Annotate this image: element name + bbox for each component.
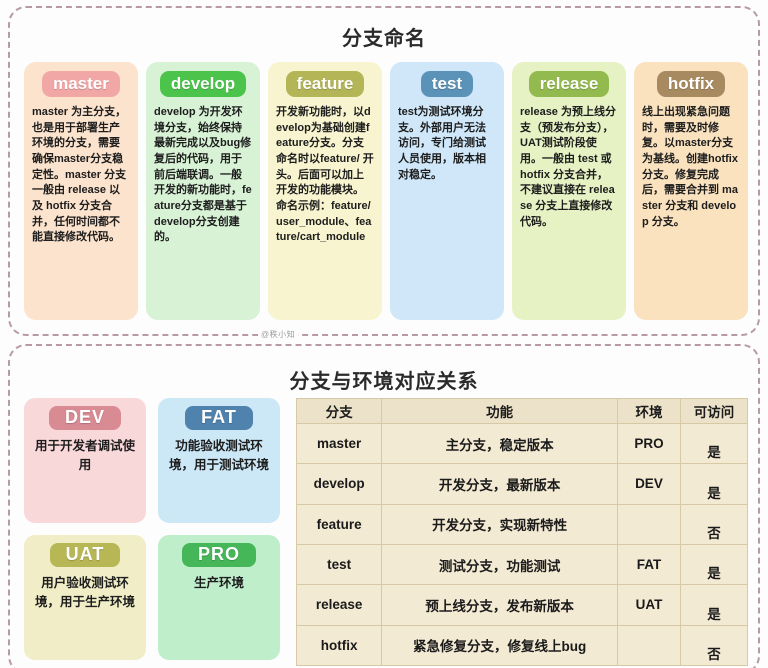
branch-pill-develop: develop xyxy=(160,71,246,97)
cell-env: FAT xyxy=(617,544,680,584)
environment-description-pro: 生产环境 xyxy=(165,574,273,593)
environment-description-dev: 用于开发者调试使用 xyxy=(31,437,139,476)
branch-cards-row: master master 为主分支，也是用于部署生产环境的分支，需要确保mas… xyxy=(24,62,748,320)
table-header-accessible: 可访问 xyxy=(680,399,747,424)
environment-pill-dev: DEV xyxy=(49,406,121,430)
cell-function: 开发分支，最新版本 xyxy=(382,464,618,504)
branch-card-hotfix: hotfix 线上出现紧急问题时，需要及时修复。以master分支为基线。创建h… xyxy=(634,62,748,320)
table-header-branch: 分支 xyxy=(297,399,382,424)
branch-naming-title: 分支命名 xyxy=(0,22,768,51)
branch-environment-table-wrap: 分支 功能 环境 可访问 master 主分支，稳定版本 PRO 是 devel… xyxy=(296,398,748,666)
cell-accessible: 是 xyxy=(680,424,747,464)
table-header-row: 分支 功能 环境 可访问 xyxy=(297,399,748,424)
branch-pill-master: master xyxy=(42,71,120,97)
cell-function: 测试分支，功能测试 xyxy=(382,544,618,584)
cell-accessible: 否 xyxy=(680,504,747,544)
cell-branch: release xyxy=(297,585,382,625)
branch-description-hotfix: 线上出现紧急问题时，需要及时修复。以master分支为基线。创建hotfix分支… xyxy=(640,105,742,230)
table-row: release 预上线分支，发布新版本 UAT 是 xyxy=(297,585,748,625)
table-header-env: 环境 xyxy=(617,399,680,424)
cell-accessible: 是 xyxy=(680,544,747,584)
branch-card-feature: feature 开发新功能时，以develop为基础创建feature分支。分支… xyxy=(268,62,382,320)
table-row: master 主分支，稳定版本 PRO 是 xyxy=(297,424,748,464)
table-row: hotfix 紧急修复分支，修复线上bug 否 xyxy=(297,625,748,665)
branch-description-release: release 为预上线分支（预发布分支），UAT测试阶段使用。一般由 test… xyxy=(518,105,620,230)
cell-accessible: 是 xyxy=(680,464,747,504)
branch-pill-hotfix: hotfix xyxy=(657,71,725,97)
cell-env: PRO xyxy=(617,424,680,464)
branch-description-test: test为测试环境分支。外部用户无法访问，专门给测试人员使用，版本相对稳定。 xyxy=(396,105,498,183)
branch-card-test: test test为测试环境分支。外部用户无法访问，专门给测试人员使用，版本相对… xyxy=(390,62,504,320)
table-row: develop 开发分支，最新版本 DEV 是 xyxy=(297,464,748,504)
branch-description-develop: develop 为开发环境分支，始终保持最新完成以及bug修复后的代码，用于前后… xyxy=(152,105,254,245)
cell-function: 紧急修复分支，修复线上bug xyxy=(382,625,618,665)
environment-card-pro: PRO 生产环境 xyxy=(158,535,280,660)
cell-accessible: 是 xyxy=(680,585,747,625)
cell-env: UAT xyxy=(617,585,680,625)
cell-accessible: 否 xyxy=(680,625,747,665)
branch-description-master: master 为主分支，也是用于部署生产环境的分支，需要确保master分支稳定… xyxy=(30,105,132,245)
cell-branch: develop xyxy=(297,464,382,504)
infographic-page: 分支命名 master master 为主分支，也是用于部署生产环境的分支，需要… xyxy=(0,0,768,668)
table-row: feature 开发分支，实现新特性 否 xyxy=(297,504,748,544)
cell-env xyxy=(617,504,680,544)
branch-description-feature: 开发新功能时，以develop为基础创建feature分支。分支命名时以feat… xyxy=(274,105,376,245)
environment-description-fat: 功能验收测试环境，用于测试环境 xyxy=(165,437,273,476)
watermark: @秩小知 xyxy=(258,329,298,340)
branch-pill-test: test xyxy=(421,71,473,97)
cell-env xyxy=(617,625,680,665)
table-header-function: 功能 xyxy=(382,399,618,424)
environment-card-uat: UAT 用户验收测试环境，用于生产环境 xyxy=(24,535,146,660)
cell-function: 主分支，稳定版本 xyxy=(382,424,618,464)
branch-card-master: master master 为主分支，也是用于部署生产环境的分支，需要确保mas… xyxy=(24,62,138,320)
cell-branch: test xyxy=(297,544,382,584)
environment-pill-pro: PRO xyxy=(182,543,256,567)
cell-branch: hotfix xyxy=(297,625,382,665)
environment-description-uat: 用户验收测试环境，用于生产环境 xyxy=(31,574,139,613)
cell-function: 开发分支，实现新特性 xyxy=(382,504,618,544)
branch-environment-title: 分支与环境对应关系 xyxy=(0,365,768,394)
table-row: test 测试分支，功能测试 FAT 是 xyxy=(297,544,748,584)
branch-pill-release: release xyxy=(529,71,610,97)
environment-card-fat: FAT 功能验收测试环境，用于测试环境 xyxy=(158,398,280,523)
branch-card-release: release release 为预上线分支（预发布分支），UAT测试阶段使用。… xyxy=(512,62,626,320)
environment-pill-uat: UAT xyxy=(50,543,121,567)
branch-environment-table: 分支 功能 环境 可访问 master 主分支，稳定版本 PRO 是 devel… xyxy=(296,398,748,666)
cell-branch: master xyxy=(297,424,382,464)
environment-cards-grid: DEV 用于开发者调试使用 FAT 功能验收测试环境，用于测试环境 UAT 用户… xyxy=(24,398,280,660)
cell-branch: feature xyxy=(297,504,382,544)
environment-pill-fat: FAT xyxy=(185,406,253,430)
environment-card-dev: DEV 用于开发者调试使用 xyxy=(24,398,146,523)
branch-card-develop: develop develop 为开发环境分支，始终保持最新完成以及bug修复后… xyxy=(146,62,260,320)
cell-env: DEV xyxy=(617,464,680,504)
branch-pill-feature: feature xyxy=(286,71,365,97)
cell-function: 预上线分支，发布新版本 xyxy=(382,585,618,625)
